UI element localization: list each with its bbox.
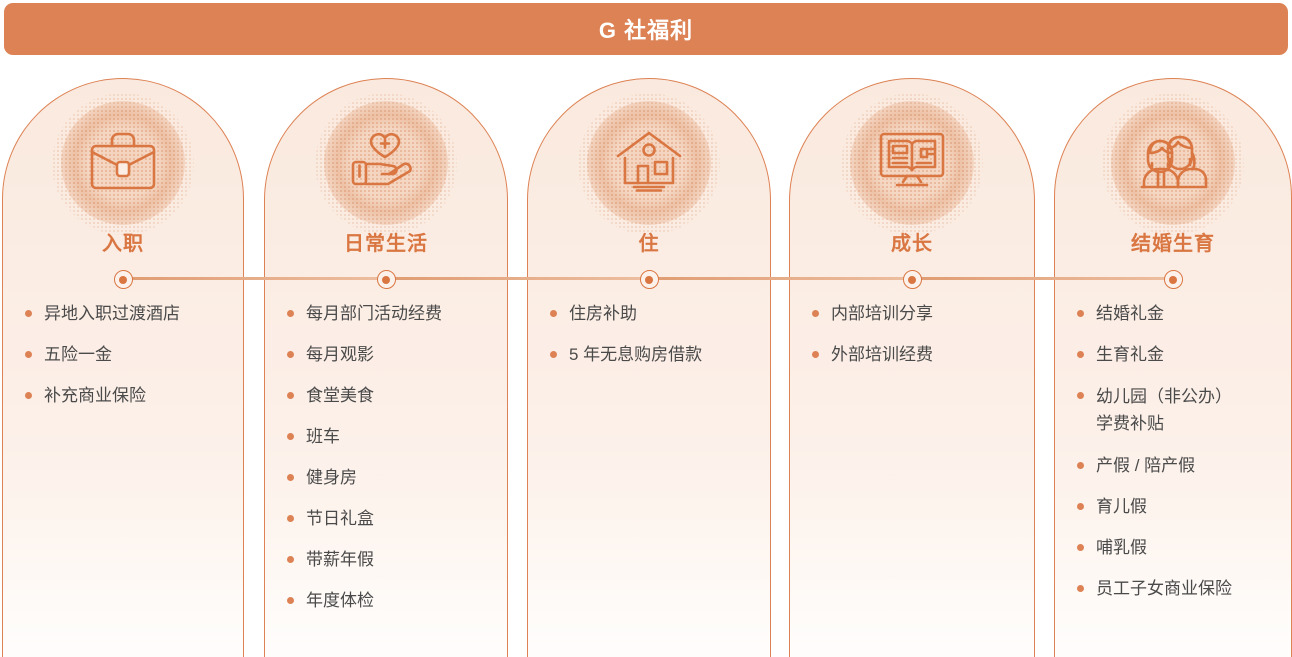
list-item-label: 产假 / 陪产假 (1096, 453, 1195, 478)
bullet-icon (287, 515, 294, 522)
briefcase-icon (81, 119, 165, 203)
bullet-icon (1077, 585, 1084, 592)
list-item: 带薪年假 (287, 547, 493, 572)
list-item-label: 员工子女商业保险 (1096, 576, 1232, 601)
list-item-label: 补充商业保险 (44, 383, 146, 408)
list-item-label: 节日礼盒 (306, 506, 374, 531)
bullet-icon (287, 310, 294, 317)
bullet-icon (287, 351, 294, 358)
list-item: 年度体检 (287, 588, 493, 613)
benefit-card-growth[interactable]: 成长 内部培训分享 外部培训经费 (789, 78, 1035, 657)
bullet-icon (287, 433, 294, 440)
benefit-card-housing[interactable]: 住 住房补助 5 年无息购房借款 (527, 78, 771, 657)
list-item: 员工子女商业保险 (1077, 576, 1277, 601)
list-item-label: 异地入职过渡酒店 (44, 301, 180, 326)
list-item: 住房补助 (550, 301, 756, 326)
house-icon (607, 119, 691, 203)
list-item: 每月观影 (287, 342, 493, 367)
bullet-icon (1077, 351, 1084, 358)
list-item: 节日礼盒 (287, 506, 493, 531)
list-item: 内部培训分享 (812, 301, 1020, 326)
list-item-label: 五险一金 (44, 342, 112, 367)
list-item-label: 幼儿园（非公办） 学费补贴 (1096, 383, 1232, 437)
list-item: 外部培训经费 (812, 342, 1020, 367)
timeline-node (1164, 270, 1183, 289)
benefit-list: 住房补助 5 年无息购房借款 (528, 301, 770, 383)
page-title: G 社福利 (599, 13, 693, 45)
list-item: 五险一金 (25, 342, 229, 367)
list-item-label: 育儿假 (1096, 494, 1147, 519)
card-title: 成长 (790, 227, 1034, 256)
page-header: G 社福利 (4, 3, 1288, 55)
list-item: 健身房 (287, 465, 493, 490)
benefit-card-daily-life[interactable]: 日常生活 每月部门活动经费 每月观影 食堂美食 班车 健身房 (264, 78, 508, 657)
list-item: 结婚礼金 (1077, 301, 1277, 326)
bullet-icon (25, 310, 32, 317)
list-item: 每月部门活动经费 (287, 301, 493, 326)
bullet-icon (1077, 544, 1084, 551)
list-item-label: 生育礼金 (1096, 342, 1164, 367)
list-item-label: 年度体检 (306, 588, 374, 613)
list-item: 产假 / 陪产假 (1077, 453, 1277, 478)
list-item: 育儿假 (1077, 494, 1277, 519)
benefit-list: 每月部门活动经费 每月观影 食堂美食 班车 健身房 节日礼盒 (265, 301, 507, 629)
timeline-node (377, 270, 396, 289)
bullet-icon (287, 556, 294, 563)
bullet-icon (287, 597, 294, 604)
timeline-node (640, 270, 659, 289)
list-item: 幼儿园（非公办） 学费补贴 (1077, 383, 1277, 437)
list-item-label: 5 年无息购房借款 (569, 342, 702, 367)
list-item-label: 内部培训分享 (831, 301, 933, 326)
couple-icon (1131, 119, 1215, 203)
list-item-label: 食堂美食 (306, 383, 374, 408)
list-item-label: 健身房 (306, 465, 357, 490)
bullet-icon (1077, 462, 1084, 469)
timeline-node (114, 270, 133, 289)
benefit-card-marriage-parenting[interactable]: 结婚生育 结婚礼金 生育礼金 幼儿园（非公办） 学费补贴 产假 / 陪产假 育儿… (1054, 78, 1292, 657)
bullet-icon (1077, 392, 1084, 399)
list-item-label: 每月观影 (306, 342, 374, 367)
list-item-label: 每月部门活动经费 (306, 301, 442, 326)
list-item: 异地入职过渡酒店 (25, 301, 229, 326)
list-item: 补充商业保险 (25, 383, 229, 408)
bullet-icon (287, 474, 294, 481)
bullet-icon (25, 351, 32, 358)
list-item: 班车 (287, 424, 493, 449)
hand-heart-care-icon (344, 119, 428, 203)
bullet-icon (1077, 503, 1084, 510)
bullet-icon (812, 310, 819, 317)
bullet-icon (812, 351, 819, 358)
bullet-icon (25, 392, 32, 399)
bullet-icon (1077, 310, 1084, 317)
card-title: 入职 (3, 227, 243, 256)
benefit-list: 结婚礼金 生育礼金 幼儿园（非公办） 学费补贴 产假 / 陪产假 育儿假 哺乳假 (1055, 301, 1291, 617)
list-item: 生育礼金 (1077, 342, 1277, 367)
timeline-connector-segment (123, 277, 387, 280)
list-item-label: 外部培训经费 (831, 342, 933, 367)
timeline-connector-segment (912, 277, 1173, 280)
card-title: 住 (528, 227, 770, 256)
card-title: 日常生活 (265, 227, 507, 256)
card-title: 结婚生育 (1055, 227, 1291, 256)
list-item-label: 班车 (306, 424, 340, 449)
benefit-card-onboarding[interactable]: 入职 异地入职过渡酒店 五险一金 补充商业保险 (2, 78, 244, 657)
bullet-icon (287, 392, 294, 399)
list-item-label: 带薪年假 (306, 547, 374, 572)
list-item: 哺乳假 (1077, 535, 1277, 560)
timeline-connector-segment (387, 277, 649, 280)
monitor-book-icon (870, 119, 954, 203)
benefits-board: 入职 异地入职过渡酒店 五险一金 补充商业保险 (0, 78, 1292, 657)
list-item: 食堂美食 (287, 383, 493, 408)
list-item-label: 结婚礼金 (1096, 301, 1164, 326)
list-item-label: 哺乳假 (1096, 535, 1147, 560)
bullet-icon (550, 351, 557, 358)
benefit-list: 内部培训分享 外部培训经费 (790, 301, 1034, 383)
list-item: 5 年无息购房借款 (550, 342, 756, 367)
benefit-list: 异地入职过渡酒店 五险一金 补充商业保险 (3, 301, 243, 424)
timeline-node (903, 270, 922, 289)
timeline-connector-segment (649, 277, 912, 280)
list-item-label: 住房补助 (569, 301, 637, 326)
bullet-icon (550, 310, 557, 317)
